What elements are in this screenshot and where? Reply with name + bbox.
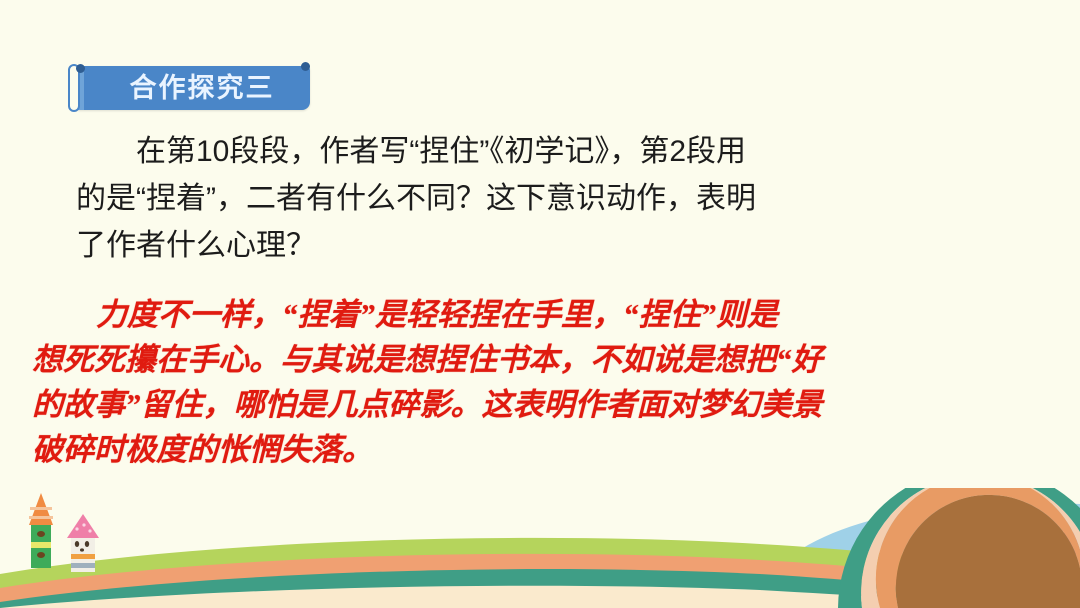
wave-cream-arc — [955, 554, 1080, 608]
banner-pin-left-icon — [76, 64, 85, 73]
rainbow-arc — [838, 488, 1080, 608]
section-banner: 合作探究三 — [68, 62, 310, 112]
wave-sky-blue — [740, 503, 1080, 608]
tower-icon — [28, 493, 54, 568]
answer-line-2: 想死死攥在手心。与其说是想捏住书本，不如说是想把“好 — [32, 337, 1052, 382]
answer-line-3: 的故事”留住，哪怕是几点碎影。这表明作者面对梦幻美景 — [32, 382, 1052, 427]
answer-text: 力度不一样，“捏着”是轻轻捏在手里，“捏住”则是 想死死攥在手心。与其说是想捏住… — [32, 292, 1052, 472]
wave-sand — [0, 586, 1080, 608]
wave-teal — [0, 569, 1080, 608]
wave-salmon — [0, 554, 1080, 608]
wave-hill-green — [0, 538, 1080, 608]
footer-waves — [0, 488, 1080, 608]
rainbow-ring-orange — [876, 488, 1080, 608]
rainbow-ring-peach — [861, 488, 1080, 608]
question-line-3: 了作者什么心理？ — [76, 222, 1006, 269]
house-icon — [66, 514, 100, 572]
slide-canvas: 合作探究三 在第10段段，作者写“捏住”《初学记》，第2段用 的是“捏着”，二者… — [0, 0, 1080, 608]
rainbow-ring-teal — [838, 488, 1080, 608]
question-text: 在第10段段，作者写“捏住”《初学记》，第2段用 的是“捏着”，二者有什么不同？… — [76, 128, 1006, 269]
question-line-1: 在第10段段，作者写“捏住”《初学记》，第2段用 — [76, 128, 1006, 175]
question-line-2: 的是“捏着”，二者有什么不同？这下意识动作，表明 — [76, 175, 1006, 222]
banner-title: 合作探究三 — [102, 66, 302, 110]
footer-decoration — [0, 488, 1080, 608]
answer-line-4: 破碎时极度的怅惘失落。 — [32, 427, 1052, 472]
answer-line-1: 力度不一样，“捏着”是轻轻捏在手里，“捏住”则是 — [32, 292, 1052, 337]
rainbow-ring-brown — [896, 495, 1080, 608]
banner-pin-right-icon — [301, 62, 310, 71]
wave-periwinkle — [900, 532, 1080, 608]
